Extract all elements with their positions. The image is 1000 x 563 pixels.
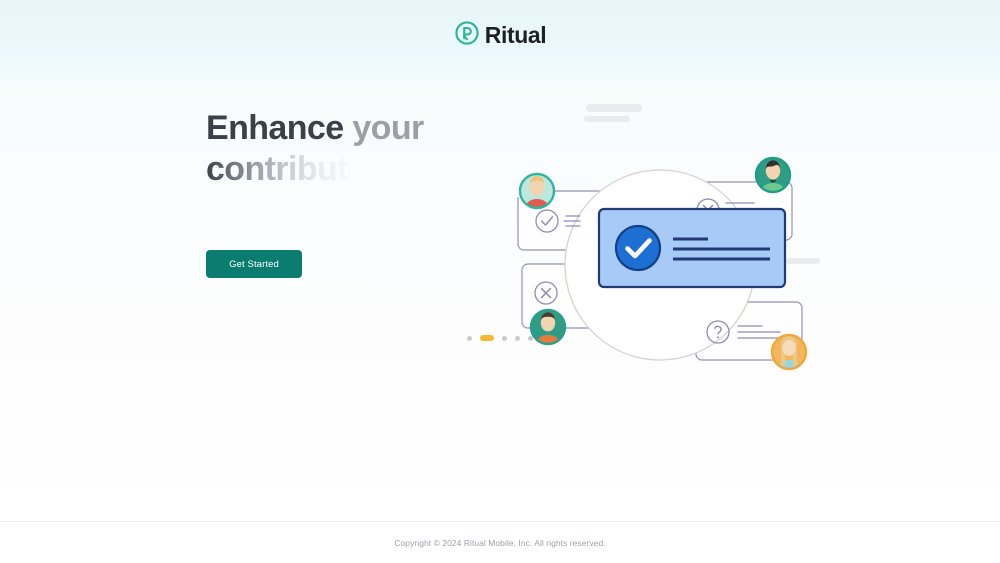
page-footer: Copyright © 2024 Ritual Mobile, Inc. All… bbox=[0, 521, 1000, 563]
page-header: Ritual bbox=[0, 0, 1000, 70]
collaboration-approval-illustration bbox=[500, 78, 830, 388]
center-approval-card bbox=[599, 209, 785, 287]
carousel-dot-4[interactable] bbox=[515, 336, 520, 341]
headline-segment-solid: Enhance bbox=[206, 109, 352, 147]
carousel-dot-2[interactable] bbox=[480, 335, 494, 341]
hero-copy: Enhance your contribut bbox=[206, 108, 536, 190]
ritual-circle-hook-logo-icon bbox=[454, 20, 480, 51]
carousel-dot-3[interactable] bbox=[502, 336, 507, 341]
ritual-logo[interactable]: Ritual bbox=[454, 20, 547, 51]
headline-segment-your: your bbox=[352, 109, 423, 147]
page-title: Enhance your contribut bbox=[206, 108, 536, 190]
carousel-dots[interactable] bbox=[0, 335, 1000, 341]
hero-section: Enhance your contribut Get Started bbox=[0, 70, 1000, 521]
avatar-bottom-left bbox=[531, 310, 565, 349]
carousel-dot-1[interactable] bbox=[467, 336, 472, 341]
get-started-button[interactable]: Get Started bbox=[206, 250, 302, 278]
ritual-wordmark: Ritual bbox=[485, 24, 547, 47]
carousel-dot-5[interactable] bbox=[528, 336, 533, 341]
headline-segment-typing: contribut bbox=[206, 150, 348, 188]
copyright-text: Copyright © 2024 Ritual Mobile, Inc. All… bbox=[394, 538, 605, 548]
onboarding-page: Ritual Enhance your contribut Get Starte… bbox=[0, 0, 1000, 563]
